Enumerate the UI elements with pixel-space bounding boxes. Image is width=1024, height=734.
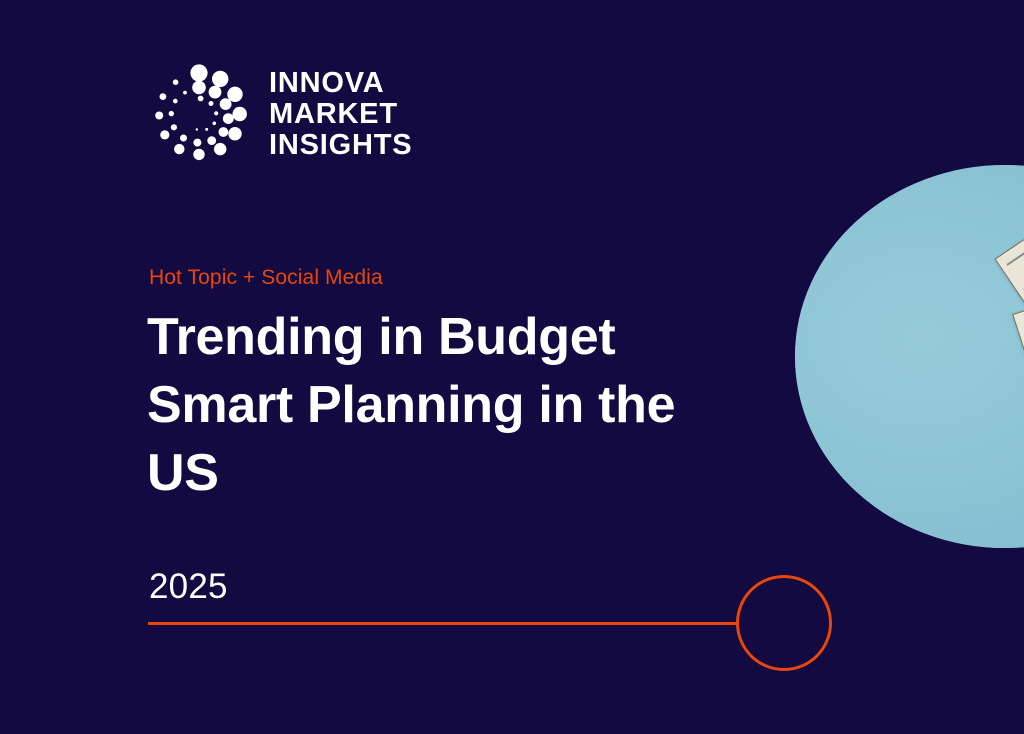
cover-slide: INNOVA MARKET INSIGHTS Hot Topic + Socia… — [0, 0, 1024, 734]
brand-wordmark-line-1: INNOVA — [269, 68, 412, 99]
year-label: 2025 — [149, 567, 228, 607]
brand-logo: INNOVA MARKET INSIGHTS — [147, 62, 412, 166]
orange-ring-icon — [736, 575, 832, 671]
brand-wordmark-line-3: INSIGHTS — [269, 130, 412, 161]
innova-dot-spiral-icon — [147, 62, 251, 166]
page-title: Trending in Budget Smart Planning in the… — [147, 303, 727, 507]
orange-rule-divider — [148, 622, 738, 625]
brand-wordmark: INNOVA MARKET INSIGHTS — [269, 68, 412, 161]
photo-background-surface — [795, 165, 1024, 548]
category-label: Hot Topic + Social Media — [149, 266, 383, 290]
cover-photo — [795, 165, 1024, 548]
brand-wordmark-line-2: MARKET — [269, 99, 412, 130]
